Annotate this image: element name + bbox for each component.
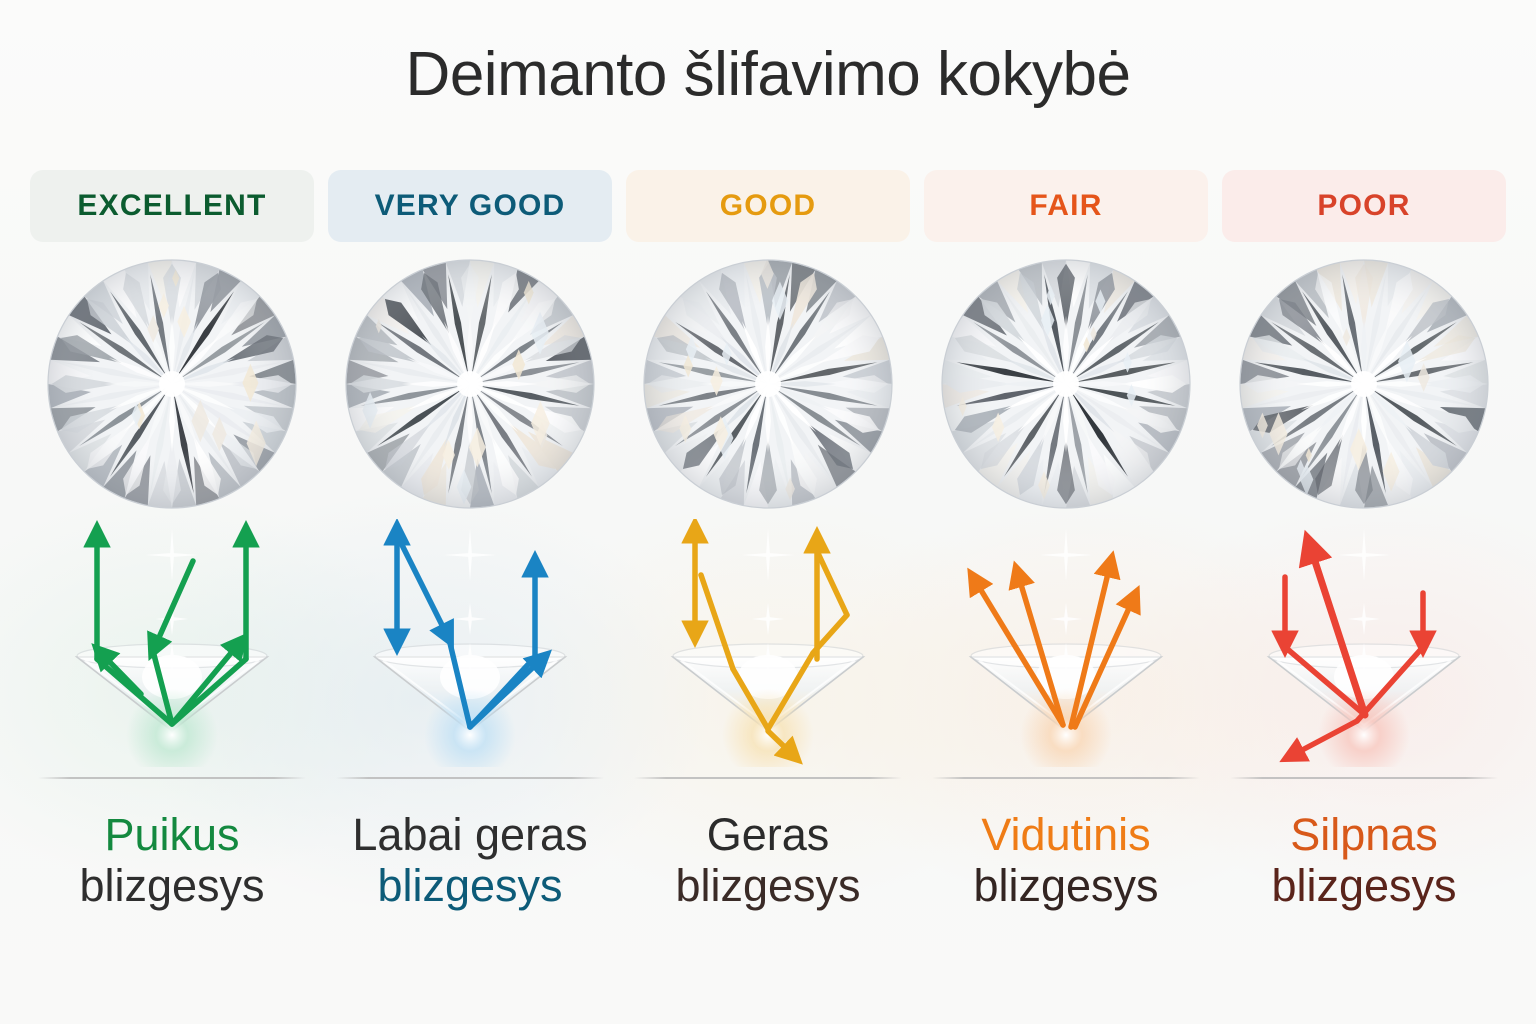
grade-column-good[interactable]: GOOD Geras blizgesys (626, 170, 910, 912)
caption-line-1: Silpnas (1271, 809, 1456, 860)
grade-badge-excellent[interactable]: EXCELLENT (30, 170, 314, 242)
infographic-root: Deimanto šlifavimo kokybė EXCELLENT Puik… (0, 0, 1536, 1024)
caption-line-1: Puikus (79, 809, 264, 860)
caption-line-1: Vidutinis (973, 809, 1158, 860)
column-divider (932, 777, 1200, 779)
column-divider (634, 777, 902, 779)
diamond-top-view-good (641, 257, 895, 511)
grade-badge-label: VERY GOOD (375, 189, 566, 223)
light-return-diagram-poor (1233, 519, 1495, 767)
caption-line-2: blizgesys (1271, 860, 1456, 911)
caption-excellent: Puikus blizgesys (79, 809, 264, 912)
light-return-diagram-very-good (339, 519, 601, 767)
caption-poor: Silpnas blizgesys (1271, 809, 1456, 912)
grade-badge-label: EXCELLENT (77, 189, 266, 223)
caption-line-2: blizgesys (352, 860, 587, 911)
column-divider (1230, 777, 1498, 779)
caption-line-2: blizgesys (79, 860, 264, 911)
grade-columns: EXCELLENT Puikus blizgesys VERY GOO (30, 170, 1506, 912)
caption-line-2: blizgesys (973, 860, 1158, 911)
page-title: Deimanto šlifavimo kokybė (0, 42, 1536, 107)
column-divider (336, 777, 604, 779)
grade-column-very-good[interactable]: VERY GOOD Labai geras blizgesys (328, 170, 612, 912)
diamond-top-view-fair (939, 257, 1193, 511)
grade-badge-label: GOOD (720, 189, 816, 223)
grade-column-poor[interactable]: POOR Silpnas blizgesys (1222, 170, 1506, 912)
caption-line-2: blizgesys (675, 860, 860, 911)
light-return-diagram-good (637, 519, 899, 767)
grade-column-excellent[interactable]: EXCELLENT Puikus blizgesys (30, 170, 314, 912)
diamond-top-view-very-good (343, 257, 597, 511)
diamond-top-view-excellent (45, 257, 299, 511)
light-return-diagram-fair (935, 519, 1197, 767)
grade-badge-fair[interactable]: FAIR (924, 170, 1208, 242)
grade-badge-very-good[interactable]: VERY GOOD (328, 170, 612, 242)
grade-badge-label: FAIR (1029, 189, 1102, 223)
column-divider (38, 777, 306, 779)
grade-badge-poor[interactable]: POOR (1222, 170, 1506, 242)
caption-line-1: Labai geras (352, 809, 587, 860)
grade-badge-label: POOR (1317, 189, 1410, 223)
caption-good: Geras blizgesys (675, 809, 860, 912)
caption-line-1: Geras (675, 809, 860, 860)
caption-very-good: Labai geras blizgesys (352, 809, 587, 912)
light-return-diagram-excellent (41, 519, 303, 767)
grade-badge-good[interactable]: GOOD (626, 170, 910, 242)
diamond-top-view-poor (1237, 257, 1491, 511)
caption-fair: Vidutinis blizgesys (973, 809, 1158, 912)
grade-column-fair[interactable]: FAIR Vidutinis blizgesys (924, 170, 1208, 912)
